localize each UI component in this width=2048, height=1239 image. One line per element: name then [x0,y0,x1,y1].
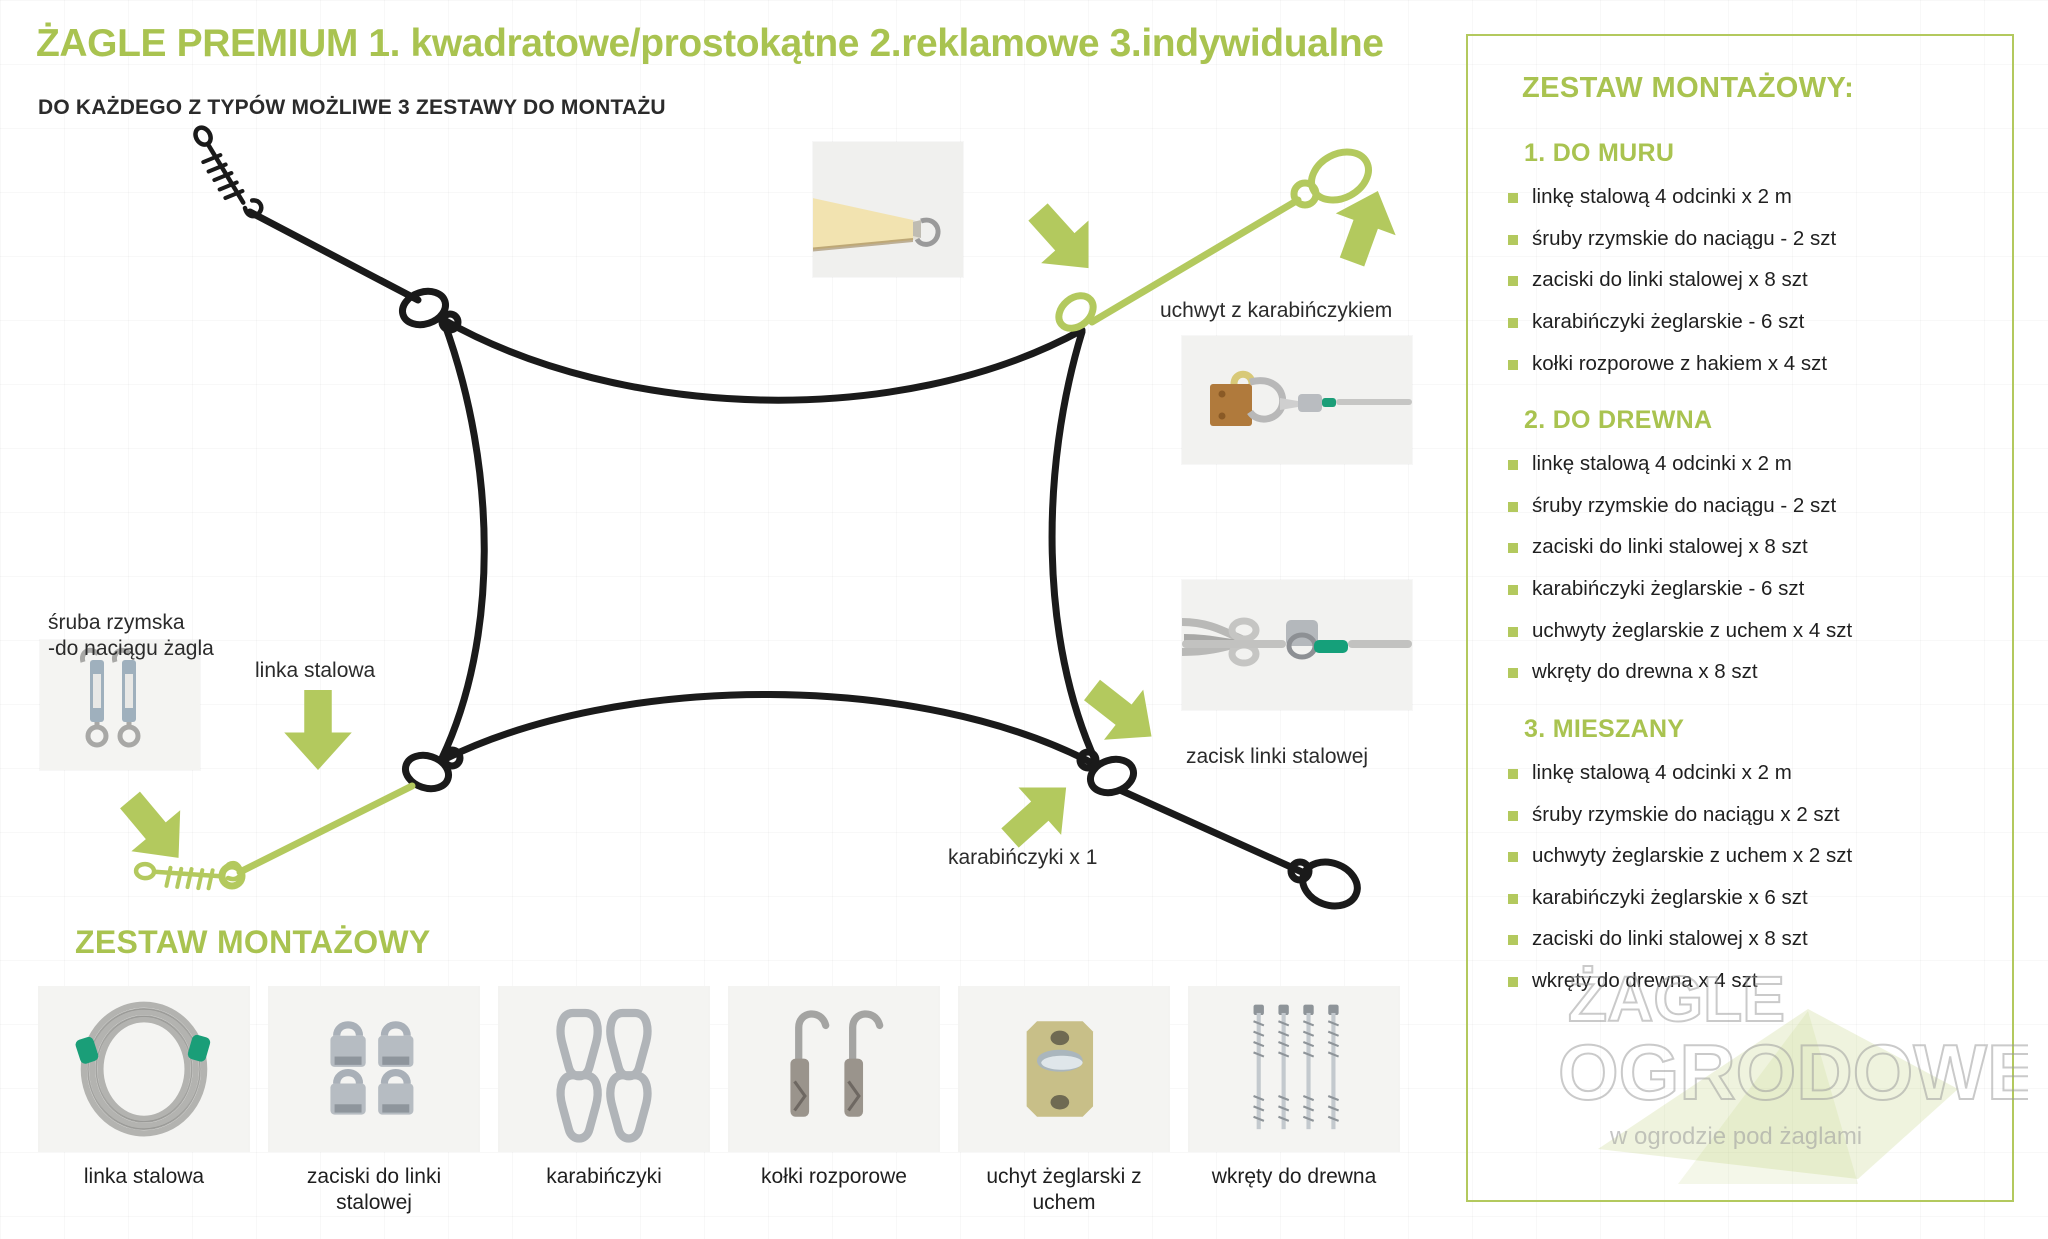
bullet-icon [1508,193,1518,203]
list-item: zaciski do linki stalowej x 8 szt [1502,267,1986,293]
list-item-label: zaciski do linki stalowej x 8 szt [1532,534,1808,560]
eye-plate-icon [958,986,1170,1152]
bullet-icon [1508,360,1518,370]
product-caption: kołki rozporowe [761,1164,907,1190]
label-karabinczyki-x1: karabińczyki x 1 [948,845,1097,871]
panel-section-title: 3. MIESZANY [1524,715,1986,744]
product-caption: uchyt żeglarski z uchem [958,1164,1170,1216]
list-item: zaciski do linki stalowej x 8 szt [1502,926,1986,952]
section-heading-zestaw-montazowy: ZESTAW MONTAŻOWY [75,924,431,961]
list-item: karabińczyki żeglarskie - 6 szt [1502,576,1986,602]
list-item: linkę stalową 4 odcinki x 2 m [1502,451,1986,477]
cable-clamps-icon [268,986,480,1152]
bullet-icon [1508,276,1518,286]
product-item: linka stalowa [38,986,250,1190]
product-item: kołki rozporowe [728,986,940,1190]
panel-section-title: 1. DO MURU [1524,139,1986,168]
list-item: karabińczyki żeglarskie - 6 szt [1502,309,1986,335]
list-item: linkę stalową 4 odcinki x 2 m [1502,760,1986,786]
product-caption: linka stalowa [84,1164,204,1190]
product-item: wkręty do drewna [1188,986,1400,1190]
bullet-icon [1508,769,1518,779]
photo-cable-clamp [1182,580,1412,710]
panel-section-1: 1. DO MURU linkę stalową 4 odcinki x 2 m… [1502,139,1986,376]
assembly-kit-panel: ZESTAW MONTAŻOWY: 1. DO MURU linkę stalo… [1466,34,2014,1202]
list-item-label: karabińczyki żeglarskie x 6 szt [1532,885,1808,911]
product-item: karabińczyki [498,986,710,1190]
list-item-label: linkę stalową 4 odcinki x 2 m [1532,451,1792,477]
list-item: linkę stalową 4 odcinki x 2 m [1502,184,1986,210]
list-item-label: uchwyty żeglarskie z uchem x 4 szt [1532,618,1852,644]
product-caption: zaciski do linki stalowej [268,1164,480,1216]
annotation-arrows-green [106,180,1408,878]
photo-sail-corner [813,142,963,277]
arrow-to-top-right-corner [1014,185,1118,289]
list-item: karabińczyki żeglarskie x 6 szt [1502,885,1986,911]
list-item-label: karabińczyki żeglarskie - 6 szt [1532,576,1804,602]
bullet-icon [1508,502,1518,512]
list-item: śruby rzymskie do naciągu - 2 szt [1502,226,1986,252]
sail-mounting-diagram [0,0,1470,960]
label-sruba-rzymska-line2: -do naciągu żagla [48,636,214,662]
list-item-label: kołki rozporowe z hakiem x 4 szt [1532,351,1827,377]
corner-loops-black [398,286,1138,798]
expansion-hooks-icon [728,986,940,1152]
list-item: wkręty do drewna x 4 szt [1502,968,1986,994]
list-item: wkręty do drewna x 8 szt [1502,659,1986,685]
panel-section-2: 2. DO DREWNA linkę stalową 4 odcinki x 2… [1502,406,1986,685]
bullet-icon [1508,811,1518,821]
list-item: zaciski do linki stalowej x 8 szt [1502,534,1986,560]
list-item-label: śruby rzymskie do naciągu x 2 szt [1532,802,1840,828]
list-item-label: śruby rzymskie do naciągu - 2 szt [1532,226,1836,252]
cable-top-left-black [171,121,418,300]
list-item: kołki rozporowe z hakiem x 4 szt [1502,351,1986,377]
product-item: uchyt żeglarski z uchem [958,986,1170,1216]
arrow-to-steel-cable [284,690,352,770]
product-item: zaciski do linki stalowej [268,986,480,1216]
bullet-icon [1508,235,1518,245]
steel-cable-coil-icon [38,986,250,1152]
list-item-label: uchwyty żeglarskie z uchem x 2 szt [1532,843,1852,869]
label-sruba-rzymska: śruba rzymska -do naciągu żagla [48,610,214,661]
label-sruba-rzymska-line1: śruba rzymska [48,610,214,636]
bullet-icon [1508,935,1518,945]
product-caption: wkręty do drewna [1212,1164,1377,1190]
list-item-label: śruby rzymskie do naciągu - 2 szt [1532,493,1836,519]
list-item-label: zaciski do linki stalowej x 8 szt [1532,926,1808,952]
wood-screws-icon [1188,986,1400,1152]
list-item-label: linkę stalową 4 odcinki x 2 m [1532,760,1792,786]
sail-outline [442,320,1096,764]
list-item-label: wkręty do drewna x 4 szt [1532,968,1758,994]
arrow-to-handle-loop [1322,180,1408,273]
bullet-icon [1508,977,1518,987]
product-strip: linka stalowa [38,986,1438,1226]
list-item-label: karabińczyki żeglarskie - 6 szt [1532,309,1804,335]
product-caption: karabińczyki [546,1164,662,1190]
bullet-icon [1508,318,1518,328]
panel-section-title: 2. DO DREWNA [1524,406,1986,435]
label-uchwyt-z-karabinczykiem: uchwyt z karabińczykiem [1160,298,1392,324]
label-linka-stalowa: linka stalowa [255,658,375,684]
list-item: śruby rzymskie do naciągu - 2 szt [1502,493,1986,519]
list-item: uchwyty żeglarskie z uchem x 4 szt [1502,618,1986,644]
arrow-to-turnbuckle [106,780,203,879]
bullet-icon [1508,585,1518,595]
bullet-icon [1508,543,1518,553]
cable-bottom-right-black [1120,790,1363,913]
carabiners-icon [498,986,710,1152]
label-zacisk-linki-stalowej: zacisk linki stalowej [1186,744,1368,770]
bullet-icon [1508,852,1518,862]
list-item: uchwyty żeglarskie z uchem x 2 szt [1502,843,1986,869]
list-item-label: zaciski do linki stalowej x 8 szt [1532,267,1808,293]
list-item-label: wkręty do drewna x 8 szt [1532,659,1758,685]
photo-eye-plate-carabiner [1182,336,1412,464]
panel-section-3: 3. MIESZANY linkę stalową 4 odcinki x 2 … [1502,715,1986,994]
bullet-icon [1508,894,1518,904]
panel-title: ZESTAW MONTAŻOWY: [1502,72,1986,105]
bullet-icon [1508,460,1518,470]
bullet-icon [1508,668,1518,678]
bullet-icon [1508,627,1518,637]
list-item-label: linkę stalową 4 odcinki x 2 m [1532,184,1792,210]
list-item: śruby rzymskie do naciągu x 2 szt [1502,802,1986,828]
